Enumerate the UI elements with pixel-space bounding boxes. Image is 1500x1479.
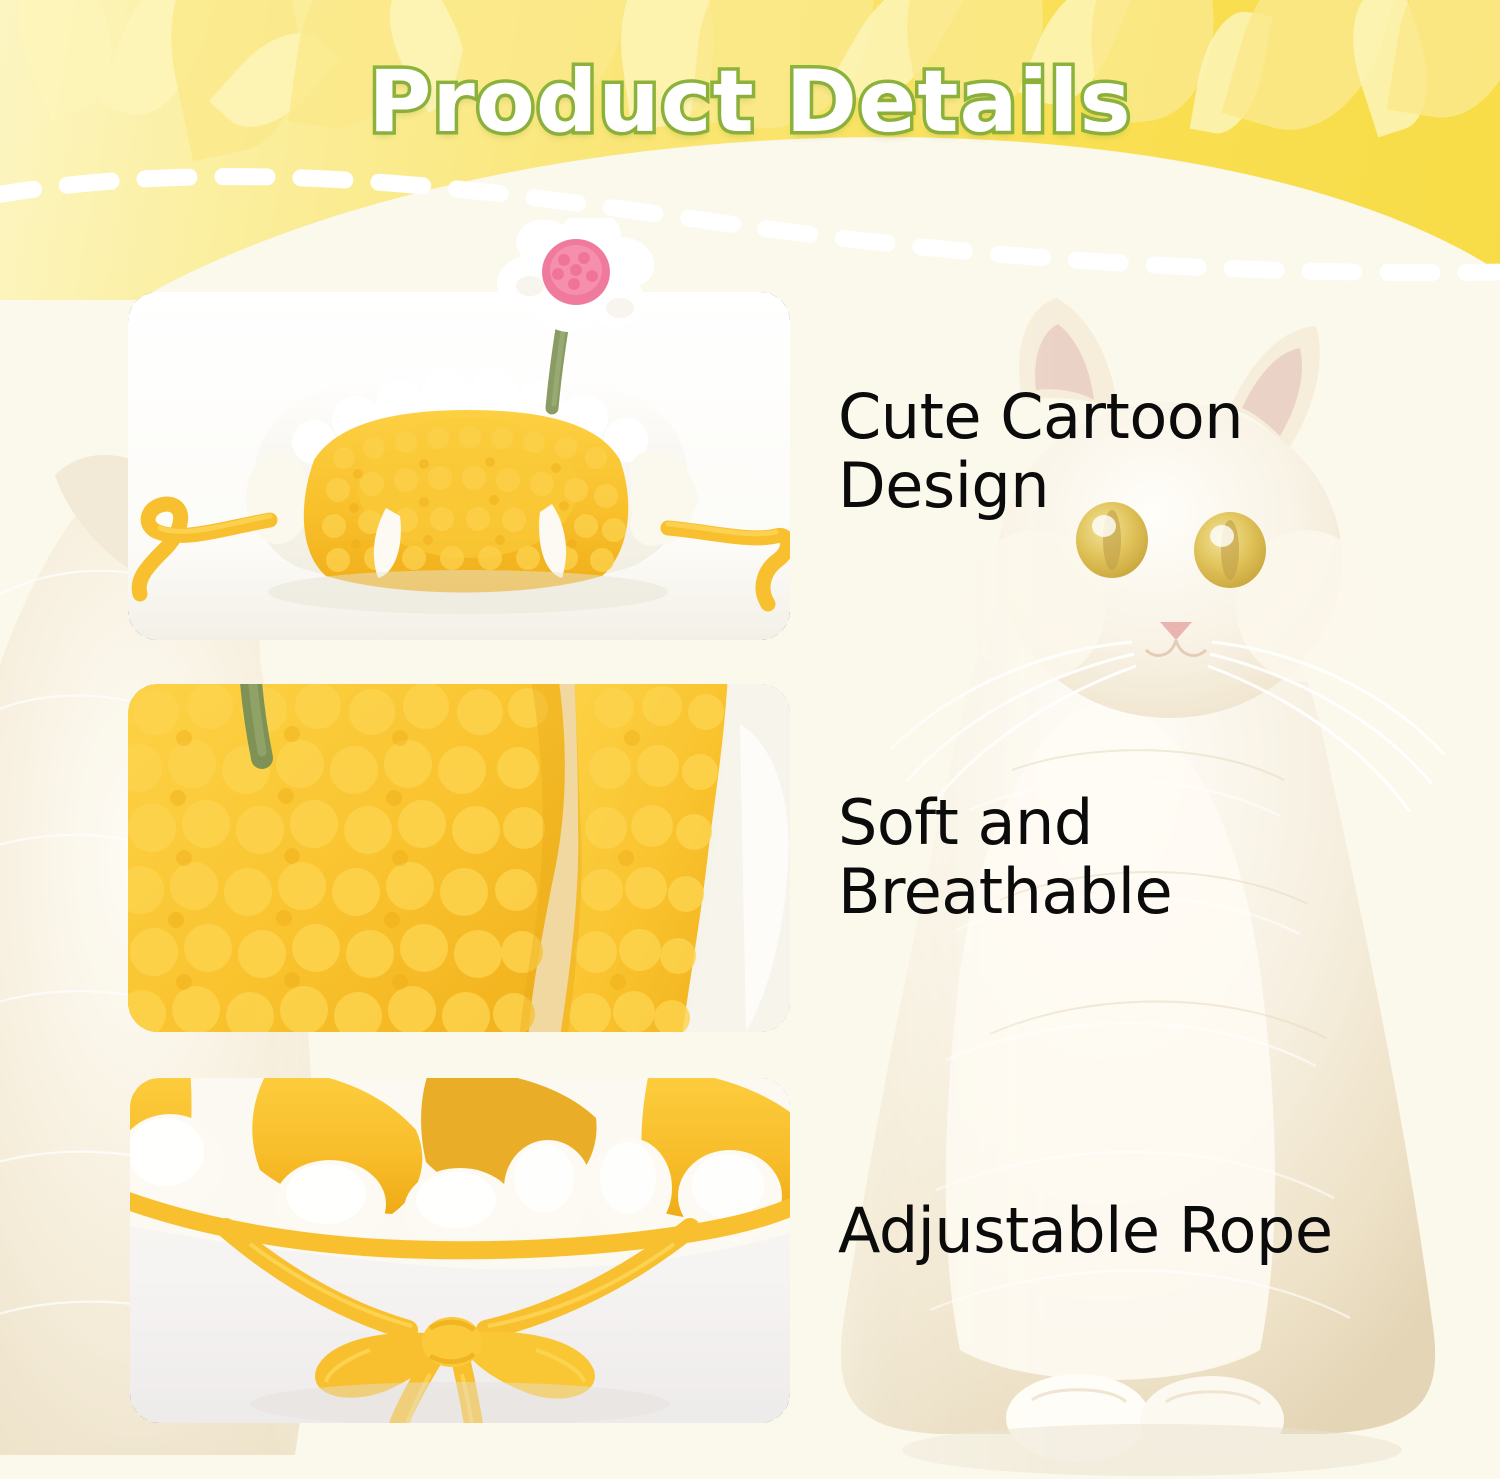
cat-eye-right <box>1194 512 1266 588</box>
feature-label-soft-and-breathable: Soft and Breathable <box>838 788 1172 927</box>
feature-label-adjustable-rope: Adjustable Rope <box>838 1196 1332 1265</box>
product-image-panel-3[interactable] <box>130 1078 790 1423</box>
product-details-page: Product Details <box>0 0 1500 1479</box>
feature-label-cute-cartoon-design: Cute Cartoon Design <box>838 382 1243 521</box>
product-image-panel-1[interactable] <box>128 292 790 640</box>
crochet-flower-decoration <box>450 218 680 418</box>
product-image-panel-2[interactable] <box>128 684 790 1032</box>
panel-3-photo <box>130 1078 790 1423</box>
panel-2-photo <box>128 684 790 1032</box>
page-title: Product Details <box>0 52 1500 152</box>
